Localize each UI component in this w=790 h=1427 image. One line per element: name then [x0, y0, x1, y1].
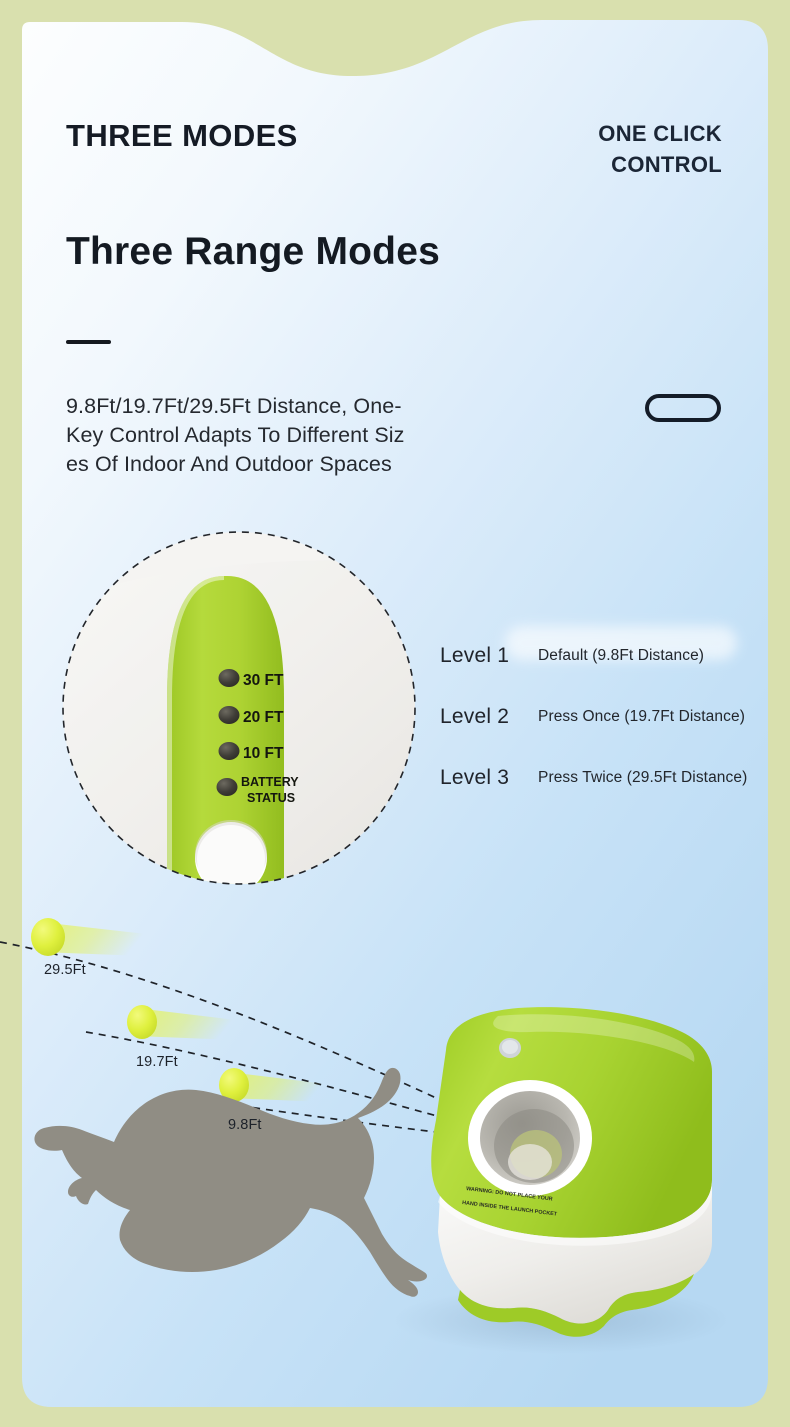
title-divider: [66, 340, 111, 344]
level-3-name: Level 3: [440, 766, 509, 790]
distance-label-9: 9.8Ft: [228, 1117, 262, 1133]
subcopy-line-3: es Of Indoor And Outdoor Spaces: [66, 450, 516, 479]
level-2-description: Press Once (19.7Ft Distance): [538, 708, 745, 726]
led-label-battery-2: STATUS: [247, 791, 295, 805]
level-1-description: Default (9.8Ft Distance): [538, 647, 704, 665]
led-10ft: [219, 742, 240, 760]
level-1-name: Level 1: [440, 644, 509, 668]
led-30ft: [219, 669, 240, 687]
led-label-20ft: 20 FT: [243, 709, 284, 726]
led-label-battery-1: BATTERY: [241, 775, 299, 789]
ball-29-5ft: [31, 918, 146, 956]
capsule-outline-icon: [645, 394, 721, 422]
dog-silhouette: [34, 1068, 427, 1297]
led-battery: [217, 778, 238, 796]
ball-9-8ft: [219, 1068, 326, 1102]
level-3-description: Press Twice (29.5Ft Distance): [538, 769, 747, 787]
one-click-line2: CONTROL: [598, 149, 722, 180]
one-click-control-label: ONE CLICK CONTROL: [598, 118, 722, 180]
ball-19-7ft: [127, 1005, 236, 1040]
launch-scene: WARNING: DO NOT PLACE YOUR HAND INSIDE T…: [0, 880, 768, 1407]
distance-label-19: 19.7Ft: [136, 1054, 178, 1070]
subcopy-line-2: Key Control Adapts To Different Siz: [66, 421, 516, 450]
led-20ft: [219, 706, 240, 724]
subcopy-line-1: 9.8Ft/19.7Ft/29.5Ft Distance, One-: [66, 392, 516, 421]
page-title: Three Range Modes: [66, 230, 440, 274]
ball-launcher-device: WARNING: DO NOT PLACE YOUR HAND INSIDE T…: [431, 1007, 712, 1337]
level-2-name: Level 2: [440, 705, 509, 729]
led-label-10ft: 10 FT: [243, 745, 284, 762]
eyebrow-label: THREE MODES: [66, 118, 298, 154]
distance-label-29: 29.5Ft: [44, 962, 86, 978]
one-click-line1: ONE CLICK: [598, 118, 722, 149]
control-panel-closeup: 30 FT 20 FT 10 FT BATTERY STATUS: [55, 528, 423, 888]
subcopy-text: 9.8Ft/19.7Ft/29.5Ft Distance, One- Key C…: [66, 392, 516, 479]
led-label-30ft: 30 FT: [243, 672, 284, 689]
